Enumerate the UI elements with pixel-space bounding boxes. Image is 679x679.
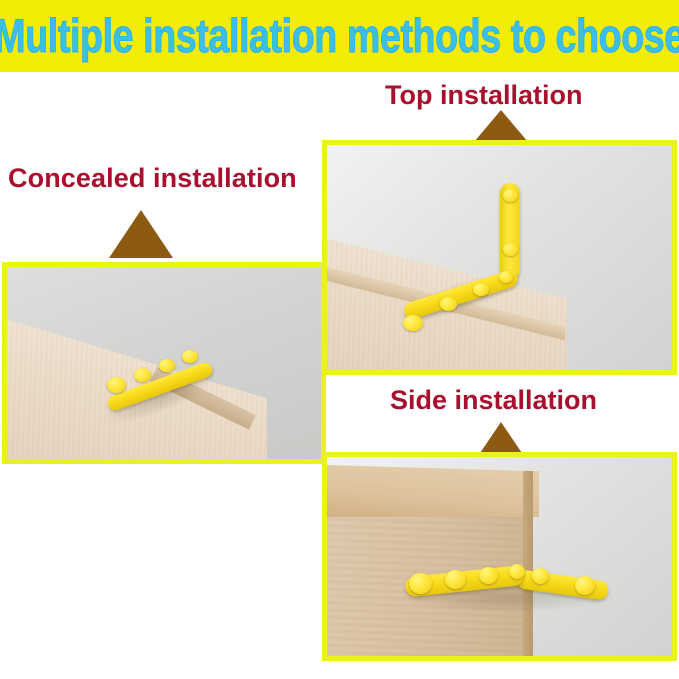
cabinet-edge	[523, 471, 533, 656]
triangle-up-icon-top	[474, 110, 528, 142]
caption-side-installation: Side installation	[390, 385, 597, 416]
strap-bump	[445, 570, 466, 589]
concealed-installation-photo	[2, 262, 326, 464]
strap-bump	[479, 567, 498, 584]
strap-bump	[503, 189, 518, 202]
top-installation-photo	[322, 140, 677, 375]
strap-bump	[575, 576, 595, 595]
header-banner: Multiple installation methods to choose	[0, 0, 679, 72]
strap-bump	[440, 297, 457, 311]
cabinet-top-rail	[327, 465, 539, 517]
strap-bump	[409, 573, 432, 594]
strap-bump	[107, 377, 126, 393]
poster-canvas: Multiple installation methods to choose …	[0, 0, 679, 679]
caption-concealed-installation: Concealed installation	[8, 163, 297, 194]
strap-bump	[532, 568, 549, 584]
strap-bump	[503, 243, 518, 256]
triangle-up-icon-concealed	[109, 210, 173, 258]
strap-bump	[134, 368, 151, 382]
strap-bump	[509, 564, 525, 579]
top-install-scene	[327, 145, 672, 370]
strap-bump	[182, 350, 198, 363]
banner-title: Multiple installation methods to choose	[0, 10, 679, 62]
side-installation-photo	[322, 452, 677, 661]
caption-top-installation: Top installation	[385, 80, 583, 111]
strap-bump	[473, 283, 489, 296]
strap-bump	[499, 271, 513, 283]
strap-bump	[159, 359, 175, 372]
strap-bump	[403, 315, 423, 331]
side-install-scene	[327, 457, 672, 656]
concealed-scene	[7, 267, 321, 459]
